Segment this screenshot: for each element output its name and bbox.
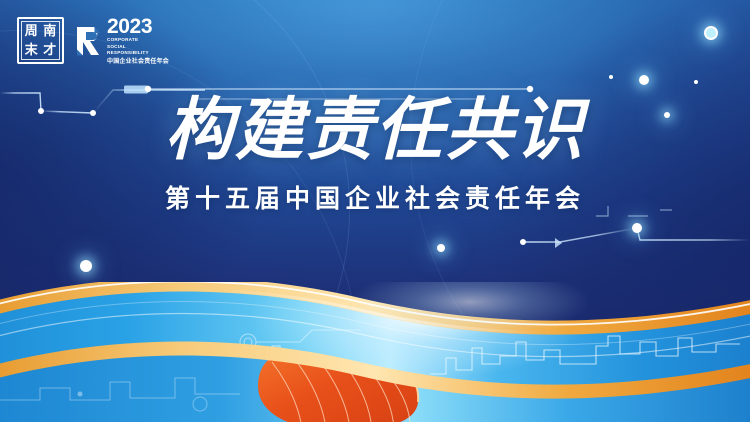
circuit-node-top-a	[145, 86, 151, 92]
logo-row: 周 南 末 才 2023 CORPORATE SOCIAL RESPONSIBI…	[17, 17, 169, 65]
glow-dot-tiny-right	[609, 75, 613, 79]
glow-dot-center-small	[437, 244, 445, 252]
csr-english-lines: CORPORATE SOCIAL RESPONSIBILITY	[107, 37, 169, 57]
circuit-arrow-mid-right	[555, 238, 562, 248]
seal-char-2: 南	[43, 25, 56, 38]
headline-block: 构建责任共识	[0, 97, 750, 165]
s-curve-ribbon	[0, 282, 750, 422]
glow-dot-trace-end-right	[632, 223, 642, 233]
southern-weekly-seal-logo: 周 南 末 才	[17, 17, 64, 64]
csr-line-responsibility: RESPONSIBILITY	[107, 50, 169, 57]
subtitle-block: 第十五届中国企业社会责任年会	[0, 186, 750, 212]
seal-inner-frame: 周 南 末 才	[21, 21, 60, 60]
poster-canvas: 周 南 末 才 2023 CORPORATE SOCIAL RESPONSIBI…	[0, 0, 750, 422]
glow-dot-small-right	[694, 80, 698, 84]
seal-char-4: 才	[43, 44, 56, 57]
circuit-trace-mid-right	[470, 228, 750, 250]
csr-logo: 2023 CORPORATE SOCIAL RESPONSIBILITY 中国企…	[75, 17, 169, 65]
glow-dot-upper-right	[639, 75, 649, 85]
glow-dot-left-mid	[80, 260, 92, 272]
seal-char-1: 周	[25, 25, 38, 38]
csr-text-block: 2023 CORPORATE SOCIAL RESPONSIBILITY 中国企…	[107, 17, 169, 65]
csr-chinese-name: 中国企业社会责任年会	[107, 59, 169, 65]
seal-char-3: 末	[25, 44, 38, 57]
poster-subtitle: 第十五届中国企业社会责任年会	[165, 186, 585, 211]
glow-dot-ring-top-right	[704, 26, 718, 40]
glow-dot-trace-right-a	[520, 239, 526, 245]
poster-title: 构建责任共识	[165, 97, 585, 165]
circuit-chip-top-left	[124, 86, 148, 94]
csr-r-mark-icon	[75, 26, 103, 56]
csr-year: 2023	[107, 17, 169, 36]
